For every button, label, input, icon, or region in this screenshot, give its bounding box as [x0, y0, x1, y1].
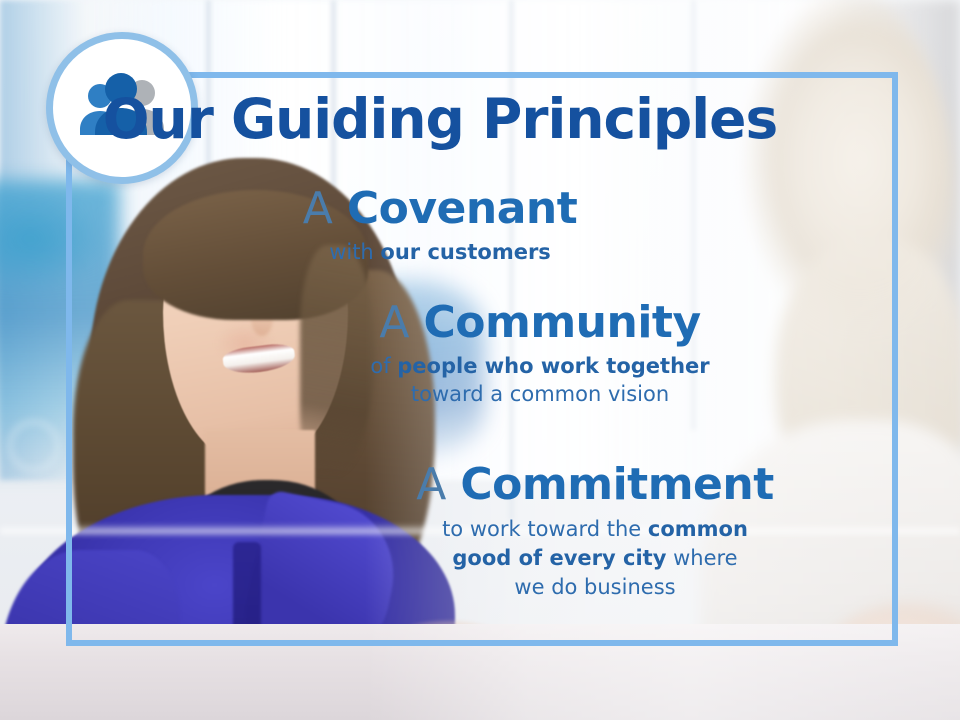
window-mullion: [690, 0, 697, 430]
people-badge: [46, 32, 198, 184]
blurred-brand-logo: [8, 420, 60, 472]
banner-root: FLOW FLOW O: [0, 0, 960, 720]
desk-edge-highlight: [0, 524, 960, 534]
people-group-icon: [72, 72, 172, 144]
desk-surface: [0, 624, 960, 720]
blurred-customer: [720, 0, 960, 690]
